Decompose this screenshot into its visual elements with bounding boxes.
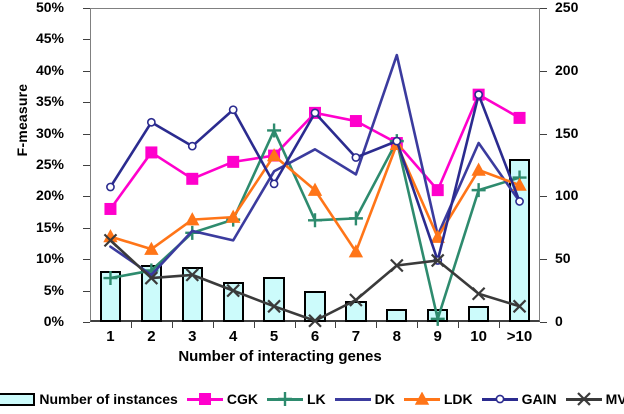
legend-marker <box>187 392 223 406</box>
legend-item: Number of instances <box>0 391 178 407</box>
x-tick-mark <box>295 322 296 328</box>
legend-swatch-line <box>566 392 602 406</box>
data-point-marker-square <box>199 393 211 405</box>
legend-item: MV <box>566 391 624 407</box>
legend-item: CGK <box>187 391 258 407</box>
y-tick-mark-left <box>83 228 90 229</box>
x-tick-label: 2 <box>131 328 171 345</box>
y-tick-mark-left <box>83 259 90 260</box>
data-point-marker-circle <box>107 183 114 190</box>
data-point-marker-square <box>104 203 116 215</box>
data-point-marker-triangle <box>416 393 428 404</box>
data-point-marker-plus <box>472 183 486 197</box>
legend-label: Number of instances <box>39 391 177 407</box>
legend-item: DK <box>335 391 395 407</box>
legend-marker <box>404 392 440 406</box>
legend-swatch-line <box>267 392 303 406</box>
data-point-marker-circle <box>393 138 400 145</box>
y-tick-label-right: 100 <box>555 190 615 200</box>
legend-label: MV <box>606 391 624 407</box>
y-tick-label-left: 5% <box>6 285 64 295</box>
data-point-marker-square <box>350 115 362 127</box>
x-tick-mark <box>213 322 214 328</box>
data-point-marker-circle <box>148 119 155 126</box>
x-tick-label: 9 <box>418 328 458 345</box>
legend-item: LK <box>267 391 326 407</box>
legend-item: LDK <box>404 391 473 407</box>
y-tick-label-right: 150 <box>555 128 615 138</box>
legend-line-stroke <box>335 398 371 401</box>
data-point-marker-plus <box>431 312 445 326</box>
legend-marker <box>482 392 518 406</box>
x-tick-mark <box>376 322 377 328</box>
legend-marker <box>267 392 303 406</box>
y-tick-mark-right <box>540 259 547 260</box>
y-tick-mark-right <box>540 71 547 72</box>
legend-swatch-line <box>404 392 440 406</box>
data-point-marker-plus <box>278 392 292 406</box>
data-point-marker-circle <box>270 180 277 187</box>
data-point-marker-square <box>432 184 444 196</box>
y-tick-label-left: 20% <box>6 190 64 200</box>
line-series-group <box>90 8 540 322</box>
x-tick-mark <box>458 322 459 328</box>
line-series <box>107 91 523 264</box>
y-tick-label-left: 35% <box>6 96 64 106</box>
chart-figure: F-measure Number of instances Number of … <box>0 0 624 414</box>
x-tick-label: 10 <box>459 328 499 345</box>
data-point-marker-x <box>350 294 362 306</box>
data-point-marker-plus <box>308 213 322 227</box>
y-tick-label-left: 25% <box>6 159 64 169</box>
data-point-marker-square <box>145 146 157 158</box>
y-tick-label-left: 10% <box>6 253 64 263</box>
y-tick-label-left: 15% <box>6 222 64 232</box>
legend-swatch-line <box>187 392 223 406</box>
y-tick-mark-right <box>540 322 547 323</box>
legend-item: GAIN <box>482 391 557 407</box>
x-tick-label: 5 <box>254 328 294 345</box>
legend-label: CGK <box>227 391 258 407</box>
y-tick-mark-left <box>83 165 90 166</box>
x-tick-label: 3 <box>172 328 212 345</box>
y-tick-label-left: 30% <box>6 128 64 138</box>
data-point-marker-square <box>186 173 198 185</box>
data-point-marker-x <box>227 285 239 297</box>
legend-swatch-line <box>482 392 518 406</box>
legend-swatch-line <box>335 392 371 406</box>
y-tick-mark-right <box>540 8 547 9</box>
y-tick-mark-left <box>83 134 90 135</box>
data-point-marker-square <box>227 156 239 168</box>
y-tick-label-left: 45% <box>6 33 64 43</box>
y-tick-mark-left <box>83 291 90 292</box>
data-point-marker-x <box>578 393 590 405</box>
chart-legend: Number of instancesCGKLKDKLDKGAINMV <box>0 388 624 410</box>
y-tick-mark-left <box>83 8 90 9</box>
data-point-marker-circle <box>352 154 359 161</box>
y-tick-label-right: 50 <box>555 253 615 263</box>
x-tick-label: 4 <box>213 328 253 345</box>
y-tick-mark-left <box>83 322 90 323</box>
x-tick-mark <box>335 322 336 328</box>
legend-label: LK <box>307 391 326 407</box>
y-tick-label-right: 200 <box>555 65 615 75</box>
legend-marker <box>566 392 602 406</box>
y-tick-mark-right <box>540 196 547 197</box>
y-tick-label-right: 0 <box>555 316 615 326</box>
data-point-marker-square <box>514 112 526 124</box>
legend-swatch-bar <box>0 393 35 406</box>
x-tick-label: 8 <box>377 328 417 345</box>
data-point-marker-plus <box>349 211 363 225</box>
data-point-marker-circle <box>189 143 196 150</box>
y-tick-label-right: 250 <box>555 2 615 12</box>
data-point-marker-plus <box>267 123 281 137</box>
line-series <box>104 234 525 326</box>
legend-label: LDK <box>444 391 473 407</box>
data-point-marker-circle <box>230 106 237 113</box>
data-point-marker-circle <box>311 109 318 116</box>
data-point-marker-plus <box>103 271 117 285</box>
y-tick-label-left: 40% <box>6 65 64 75</box>
x-axis-title: Number of interacting genes <box>0 348 560 365</box>
y-tick-label-left: 50% <box>6 2 64 12</box>
y-tick-mark-left <box>83 102 90 103</box>
series-path <box>110 144 519 251</box>
x-tick-label: 7 <box>336 328 376 345</box>
data-point-marker-x <box>268 300 280 312</box>
x-tick-mark <box>131 322 132 328</box>
legend-label: GAIN <box>522 391 557 407</box>
x-tick-mark <box>417 322 418 328</box>
data-point-marker-circle <box>475 91 482 98</box>
data-point-marker-triangle <box>473 164 485 175</box>
x-tick-mark <box>499 322 500 328</box>
data-point-marker-circle <box>516 198 523 205</box>
y-tick-label-left: 0% <box>6 316 64 326</box>
plot-area <box>90 8 540 322</box>
y-tick-mark-left <box>83 71 90 72</box>
y-tick-mark-left <box>83 39 90 40</box>
x-tick-label: 6 <box>295 328 335 345</box>
y-tick-mark-right <box>540 134 547 135</box>
data-point-marker-circle <box>496 395 503 402</box>
legend-label: DK <box>375 391 395 407</box>
x-tick-mark <box>172 322 173 328</box>
x-tick-mark <box>254 322 255 328</box>
x-tick-label: 1 <box>90 328 130 345</box>
y-tick-mark-left <box>83 196 90 197</box>
x-tick-label: >10 <box>500 328 540 345</box>
data-point-marker-x <box>309 315 321 327</box>
